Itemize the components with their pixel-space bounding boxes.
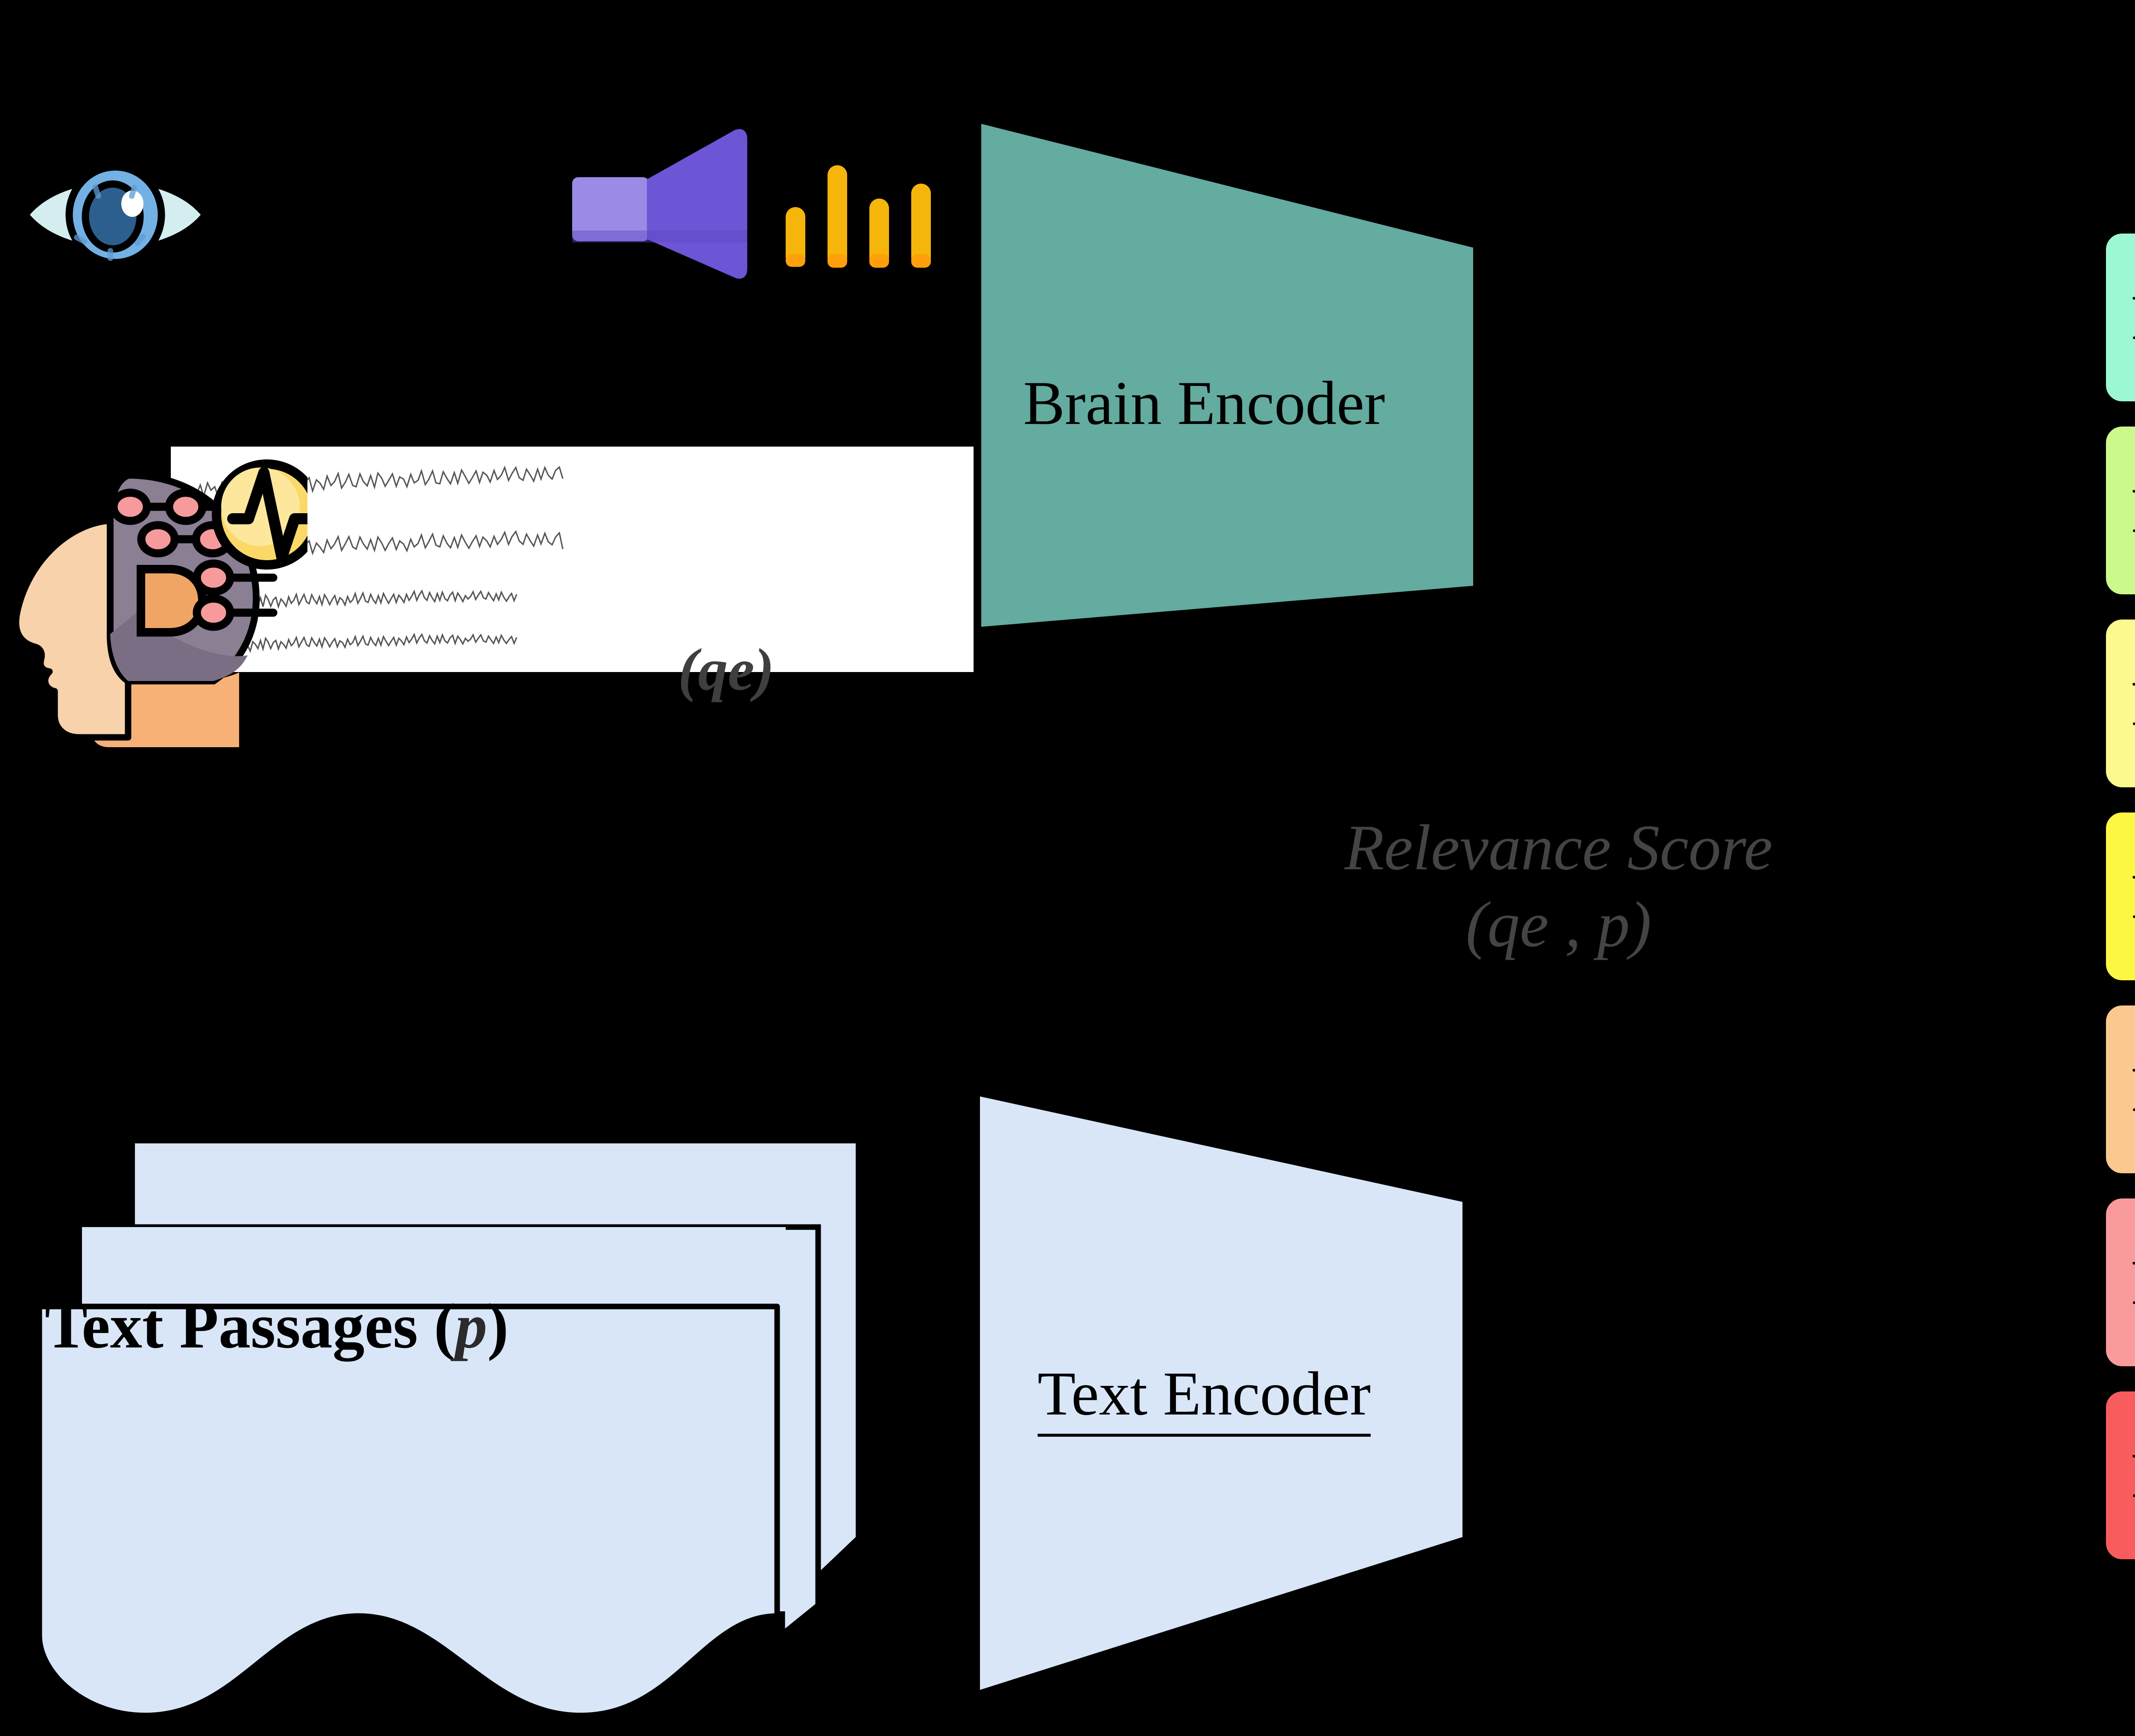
passage-label: Passage 5 <box>2106 474 2135 547</box>
text-passages-suffix: ) <box>487 1291 509 1362</box>
relevance-score-line2: (qe , p) <box>1196 888 1921 961</box>
passage-label: Passage 4 <box>2106 860 2135 933</box>
passage-label: Passage 7 <box>2106 281 2135 354</box>
relevance-score-line1: Relevance Score <box>1196 811 1921 884</box>
text-passages-prefix: Text Passages ( <box>45 1291 455 1362</box>
passage-label: Passage 2 <box>2106 1246 2135 1319</box>
ranked-passage-5[interactable]: Passage 1 <box>2099 998 2135 1181</box>
passage-label: Passage 1 <box>2106 1053 2135 1126</box>
brain-query-label: (qe) <box>678 635 774 704</box>
passage-label: Passage 3 <box>2106 1439 2135 1512</box>
text-encoder-label: Text Encoder <box>969 1358 1439 1437</box>
ranked-passage-6[interactable]: Passage 2 <box>2099 1191 2135 1374</box>
ranked-passage-1[interactable]: Passage 7 <box>2099 226 2135 409</box>
speaker-icon <box>568 126 952 282</box>
brain-encoder-label: Brain Encoder <box>969 367 1439 439</box>
text-encoder-label-text: Text Encoder <box>1038 1358 1371 1437</box>
text-passages-label: Text Passages (p) <box>45 1289 509 1363</box>
passage-label: Passage 6 <box>2106 667 2135 740</box>
diagram-canvas: (qe) Brain Encoder Relevance Score (qe ,… <box>0 0 2135 1736</box>
text-passages-var: p <box>455 1291 487 1362</box>
text-passages-stack <box>9 1119 914 1725</box>
ranked-passage-7[interactable]: Passage 3 <box>2099 1384 2135 1566</box>
eeg-head-icon <box>0 433 307 749</box>
ranked-passage-4[interactable]: Passage 4 <box>2099 805 2135 988</box>
eye-icon <box>26 164 205 263</box>
ranked-passage-3[interactable]: Passage 6 <box>2099 612 2135 795</box>
ranked-passage-2[interactable]: Passage 5 <box>2099 419 2135 602</box>
